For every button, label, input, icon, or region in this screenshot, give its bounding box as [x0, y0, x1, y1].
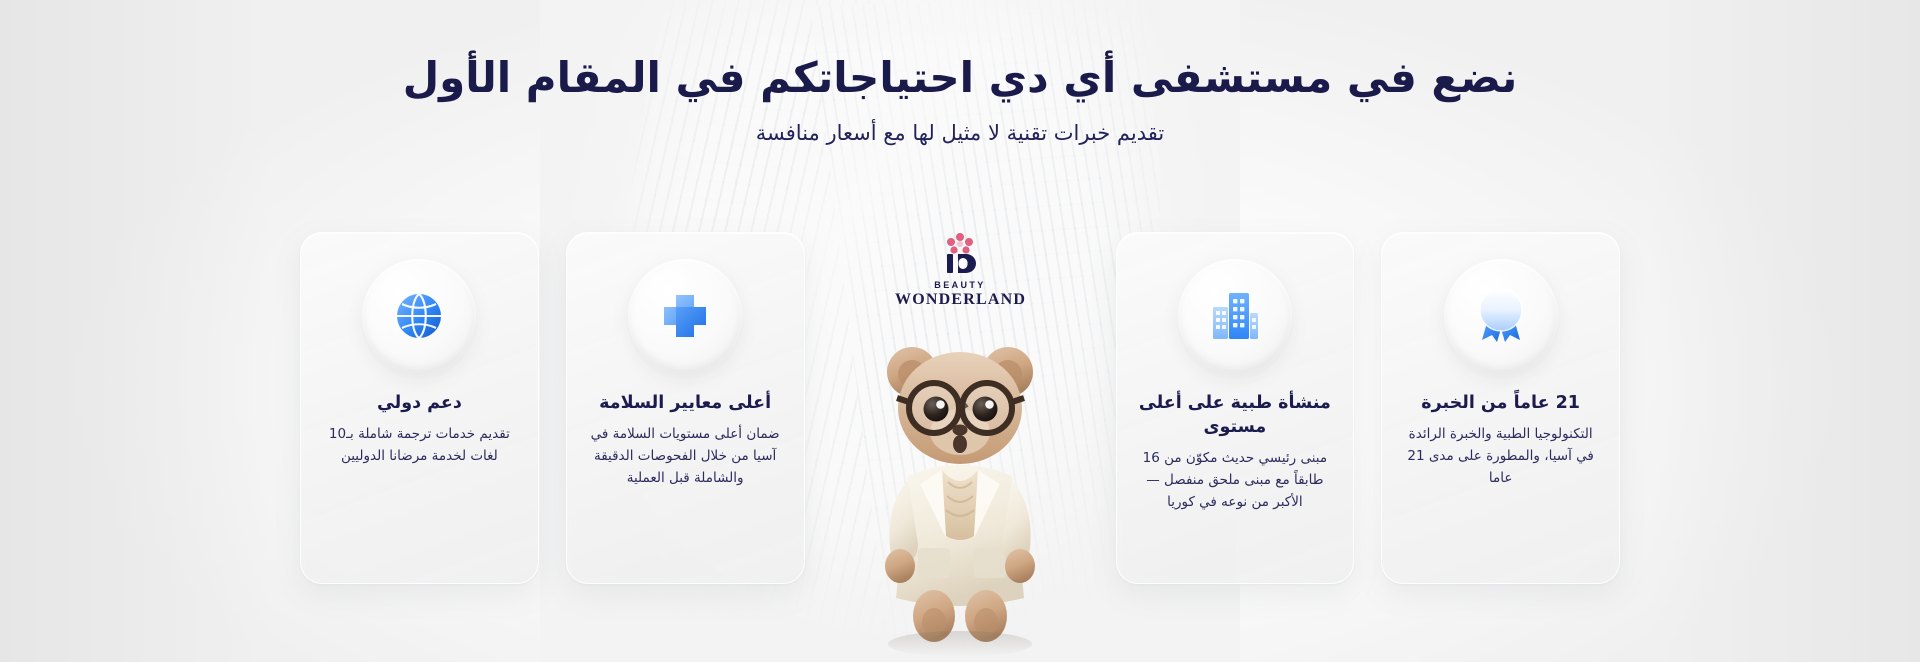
feature-card-title: أعلى معايير السلامة	[599, 391, 771, 415]
feature-card-international-support[interactable]: دعم دولي تقديم خدمات ترجمة شاملة بـ10 لغ…	[300, 232, 539, 584]
brand-logo: BEAUTY WONDERLAND	[895, 232, 1025, 309]
feature-card-facility[interactable]: منشأة طبية على أعلى مستوى مبنى رئيسي حدي…	[1116, 232, 1355, 584]
feature-card-safety[interactable]: أعلى معايير السلامة ضمان أعلى مستويات ال…	[566, 232, 805, 584]
page-title: نضع في مستشفى أي دي احتياجاتكم في المقام…	[0, 52, 1920, 105]
feature-card-title: دعم دولي	[377, 391, 462, 415]
feature-card-title: منشأة طبية على أعلى مستوى	[1135, 391, 1336, 439]
hospital-building-icon	[1178, 259, 1292, 373]
feature-card-body: مبنى رئيسي حديث مكوّن من 16 طابقاً مع مب…	[1135, 448, 1336, 514]
feature-card-title: 21 عاماً من الخبرة	[1421, 391, 1580, 415]
feature-card-body: التكنولوجيا الطبية والخبرة الرائدة في آس…	[1400, 424, 1601, 490]
feature-card-body: ضمان أعلى مستويات السلامة في آسيا من خلا…	[585, 424, 786, 490]
bear-doctor-mascot	[850, 330, 1070, 660]
hero-heading-group: نضع في مستشفى أي دي احتياجاتكم في المقام…	[0, 52, 1920, 145]
id-flower-monogram-icon	[934, 232, 986, 278]
globe-icon	[362, 259, 476, 373]
logo-wonderland-text: WONDERLAND	[895, 291, 1025, 309]
feature-card-experience[interactable]: 21 عاماً من الخبرة التكنولوجيا الطبية وا…	[1381, 232, 1620, 584]
page-subtitle: تقديم خبرات تقنية لا مثيل لها مع أسعار م…	[0, 121, 1920, 145]
award-ribbon-icon	[1444, 259, 1558, 373]
feature-card-body: تقديم خدمات ترجمة شاملة بـ10 لغات لخدمة …	[319, 424, 520, 468]
logo-beauty-text: BEAUTY	[895, 280, 1025, 290]
hero-banner: نضع في مستشفى أي دي احتياجاتكم في المقام…	[0, 0, 1920, 662]
medical-cross-icon	[628, 259, 742, 373]
